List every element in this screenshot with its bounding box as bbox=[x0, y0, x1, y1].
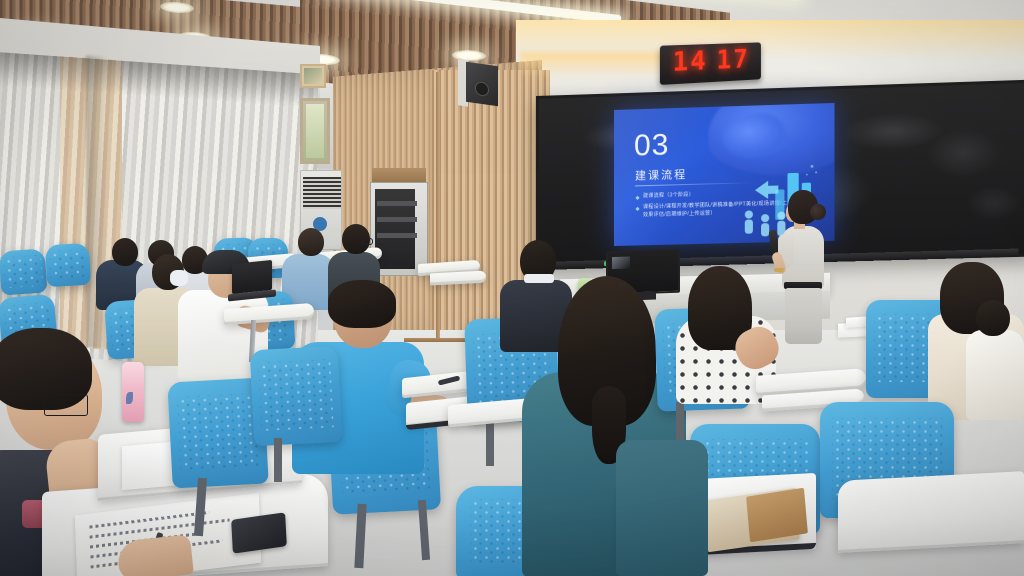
laptop[interactable] bbox=[232, 260, 272, 294]
hair bbox=[328, 280, 396, 328]
window-glass bbox=[306, 104, 324, 158]
slide-bullet-text: 建课流程（3个阶段） bbox=[643, 192, 694, 201]
monitor-glare bbox=[612, 256, 630, 269]
presenter-skirt bbox=[785, 288, 822, 344]
head bbox=[298, 228, 324, 256]
chair[interactable] bbox=[45, 243, 91, 287]
presenter bbox=[778, 190, 840, 350]
rack-shelf bbox=[377, 201, 417, 206]
clock-hours: 14 bbox=[672, 46, 707, 78]
torso bbox=[616, 440, 708, 576]
bullet-marker-icon bbox=[635, 196, 639, 200]
slide-bullet: 建课流程（3个阶段） bbox=[636, 192, 694, 201]
head bbox=[976, 300, 1010, 336]
bullet-marker-icon bbox=[635, 207, 639, 211]
attendee-right-edge-woman bbox=[966, 300, 1024, 420]
rack-shelf bbox=[377, 217, 417, 222]
glasses-icon bbox=[362, 238, 373, 245]
torso bbox=[966, 330, 1024, 420]
side-window bbox=[300, 98, 330, 164]
slide-section-number: 03 bbox=[634, 130, 669, 161]
attendee-right-foreground bbox=[616, 416, 708, 576]
wall-picture-frame bbox=[300, 64, 326, 88]
clock-minutes: 17 bbox=[716, 45, 749, 76]
ac-grille-icon bbox=[303, 177, 341, 209]
chair[interactable] bbox=[250, 346, 343, 446]
slide-title: 建课流程 bbox=[635, 166, 687, 184]
notebook-cover bbox=[746, 488, 808, 543]
glasses-icon bbox=[44, 394, 88, 416]
wall-conduit bbox=[436, 72, 440, 340]
chair-leg bbox=[274, 438, 282, 482]
desk[interactable] bbox=[838, 471, 1024, 553]
wall-led-clock: 14 17 bbox=[660, 42, 761, 85]
presenter-hair-bun bbox=[810, 204, 826, 220]
wall-speaker bbox=[466, 62, 498, 106]
classroom-photo: 14 17 03 建课流程 建课流程（3个阶段） 课程设计/课程开发/教学团队/… bbox=[0, 0, 1024, 576]
chair[interactable] bbox=[0, 248, 47, 295]
rack-shelf bbox=[377, 233, 417, 238]
speaker-cone-icon bbox=[475, 81, 489, 97]
